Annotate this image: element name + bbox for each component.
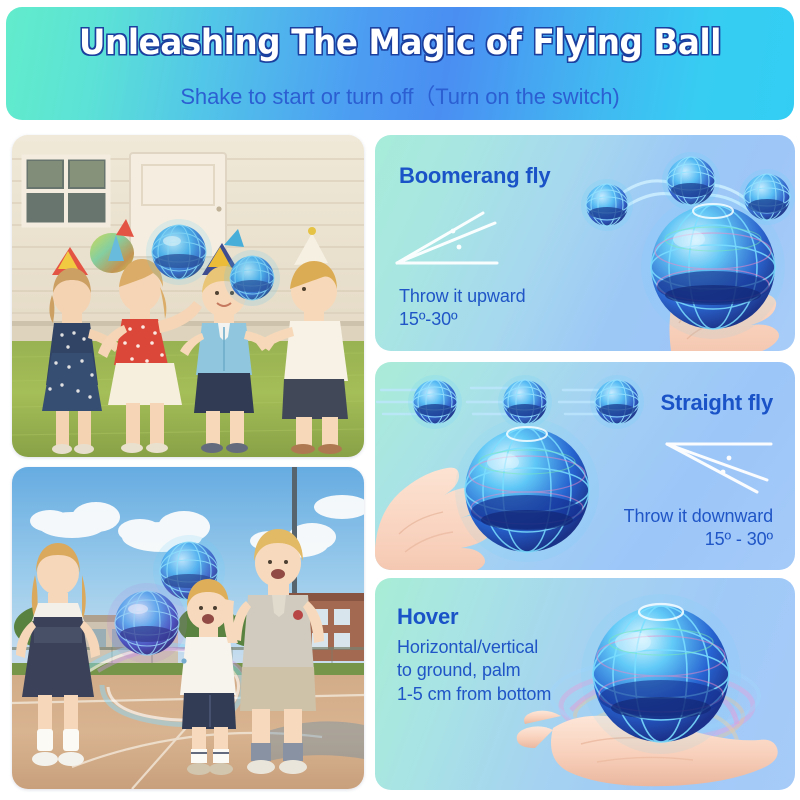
panel-straight-title: Straight fly <box>661 390 774 416</box>
panel-boomerang-title: Boomerang fly <box>399 163 550 189</box>
mini-orb-s1 <box>408 375 462 429</box>
product-orb-large <box>641 195 785 339</box>
infographic-page: Unleashing The Magic of Flying Ball Shak… <box>0 0 800 800</box>
page-title: Unleashing The Magic of Flying Ball <box>34 23 767 63</box>
panel-hover-body: Horizontal/vertical to ground, palm 1-5 … <box>397 636 551 706</box>
page-subtitle: Shake to start or turn off（Turn on the s… <box>6 79 794 111</box>
product-orb-large-2 <box>455 418 599 562</box>
panel-boomerang-body: Throw it upward 15º-30º <box>399 285 526 332</box>
photo-kids-school-court <box>12 467 364 789</box>
panel-hover: Hover Horizontal/vertical to ground, pal… <box>375 578 795 790</box>
panel-hover-title: Hover <box>397 604 458 630</box>
photo-court-art <box>12 467 364 789</box>
angle-down-icon <box>667 444 771 492</box>
mini-orb-s3 <box>590 375 644 429</box>
product-orb-hover <box>581 594 741 754</box>
angle-up-icon <box>397 213 497 263</box>
photo-party-art <box>12 135 364 457</box>
photo-kids-birthday-party <box>12 135 364 457</box>
header-banner: Unleashing The Magic of Flying Ball Shak… <box>6 7 794 120</box>
panel-straight-fly: Straight fly Throw it downward 15º - 30º <box>375 362 795 570</box>
panel-boomerang-fly: Boomerang fly Throw it upward 15º-30º <box>375 135 795 351</box>
mini-orb-1 <box>581 179 633 231</box>
panel-straight-body: Throw it downward 15º - 30º <box>624 505 773 552</box>
